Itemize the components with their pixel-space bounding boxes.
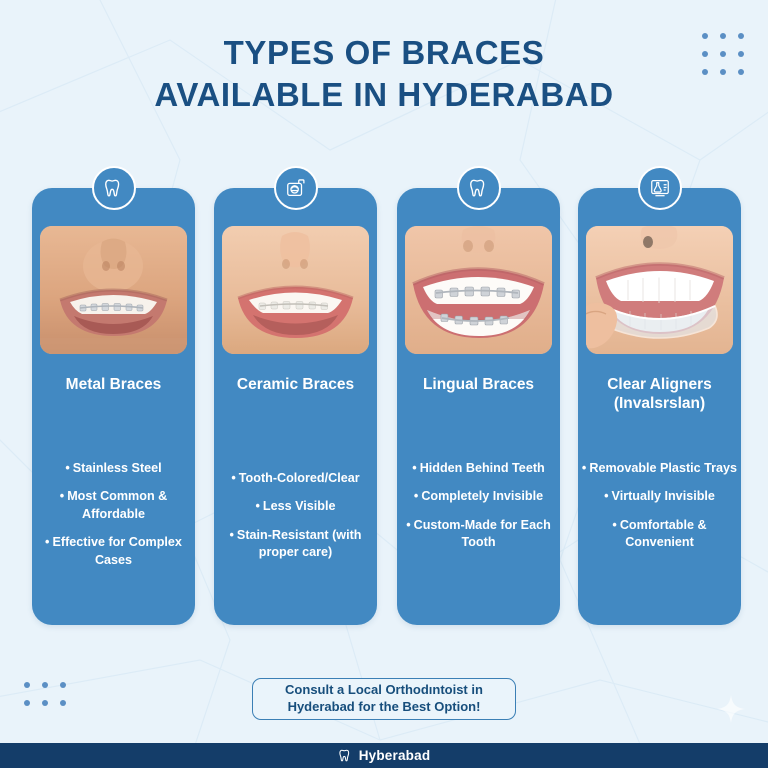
consult-cta-button[interactable]: Consult a Local Orthodıntoist in Hyderab… bbox=[252, 678, 516, 720]
page-title: TYPES OF BRACES AVAILABLE IN HYDERABAD bbox=[0, 32, 768, 116]
list-item: •Stain-Resistant (with proper care) bbox=[212, 527, 379, 562]
lingual-braces-photo bbox=[405, 226, 552, 354]
tooth-icon bbox=[92, 166, 136, 210]
sparkle-icon bbox=[716, 694, 746, 724]
metal-braces-photo bbox=[40, 226, 187, 354]
list-item: •Less Visible bbox=[212, 498, 379, 515]
dental-scanner-icon bbox=[274, 166, 318, 210]
tooth-icon bbox=[338, 748, 353, 763]
list-item: •Completely Invisible bbox=[395, 488, 562, 505]
list-item: •Comfortable & Convenient bbox=[576, 517, 743, 552]
list-item: •Virtually Invisible bbox=[576, 488, 743, 505]
cta-line-1: Consult a Local Orthodıntoist in bbox=[285, 682, 483, 697]
card-bullet-list: •Removable Plastic Trays •Virtually Invi… bbox=[576, 460, 743, 563]
card-bullet-list: •Stainless Steel •Most Common & Affordab… bbox=[30, 460, 197, 580]
card-title: Ceramic Braces bbox=[218, 376, 373, 395]
card-title-main: Clear Aligners bbox=[607, 376, 712, 393]
card-title-main: Ceramic Braces bbox=[237, 376, 354, 393]
list-item: •Custom-Made for Each Tooth bbox=[395, 517, 562, 552]
tooth-icon bbox=[457, 166, 501, 210]
dot-grid-bottom-left bbox=[24, 682, 66, 706]
card-bullet-list: •Tooth-Colored/Clear •Less Visible •Stai… bbox=[212, 470, 379, 573]
cta-line-2: Hyderabad for the Best Option! bbox=[288, 699, 481, 714]
braces-card-clear-aligners[interactable]: Clear Aligners (Invalsrslan) •Removable … bbox=[578, 188, 741, 625]
list-item: •Hidden Behind Teeth bbox=[395, 460, 562, 477]
card-title: Lingual Braces bbox=[401, 376, 556, 395]
infographic-canvas: TYPES OF BRACES AVAILABLE IN HYDERABAD bbox=[0, 0, 768, 768]
dental-lab-flask-icon bbox=[638, 166, 682, 210]
braces-card-metal[interactable]: Metal Braces •Stainless Steel •Most Comm… bbox=[32, 188, 195, 625]
title-line-2: AVAILABLE IN HYDERABAD bbox=[0, 74, 768, 116]
card-title: Clear Aligners (Invalsrslan) bbox=[582, 376, 737, 413]
list-item: •Stainless Steel bbox=[30, 460, 197, 477]
card-title: Metal Braces bbox=[36, 376, 191, 395]
card-title-main: Metal Braces bbox=[66, 376, 162, 393]
footer-bar: Hyberabad bbox=[0, 743, 768, 768]
list-item: •Tooth-Colored/Clear bbox=[212, 470, 379, 487]
card-title-sub: (Invalsrslan) bbox=[582, 395, 737, 414]
list-item: •Most Common & Affordable bbox=[30, 488, 197, 523]
title-line-1: TYPES OF BRACES bbox=[224, 34, 545, 71]
list-item: •Removable Plastic Trays bbox=[576, 460, 743, 477]
footer-brand-label: Hyberabad bbox=[359, 748, 431, 763]
braces-card-ceramic[interactable]: Ceramic Braces •Tooth-Colored/Clear •Les… bbox=[214, 188, 377, 625]
braces-card-lingual[interactable]: Lingual Braces •Hidden Behind Teeth •Com… bbox=[397, 188, 560, 625]
ceramic-braces-photo bbox=[222, 226, 369, 354]
card-title-main: Lingual Braces bbox=[423, 376, 534, 393]
list-item: •Effective for Complex Cases bbox=[30, 534, 197, 569]
card-bullet-list: •Hidden Behind Teeth •Completely Invisib… bbox=[395, 460, 562, 563]
clear-aligner-photo bbox=[586, 226, 733, 354]
